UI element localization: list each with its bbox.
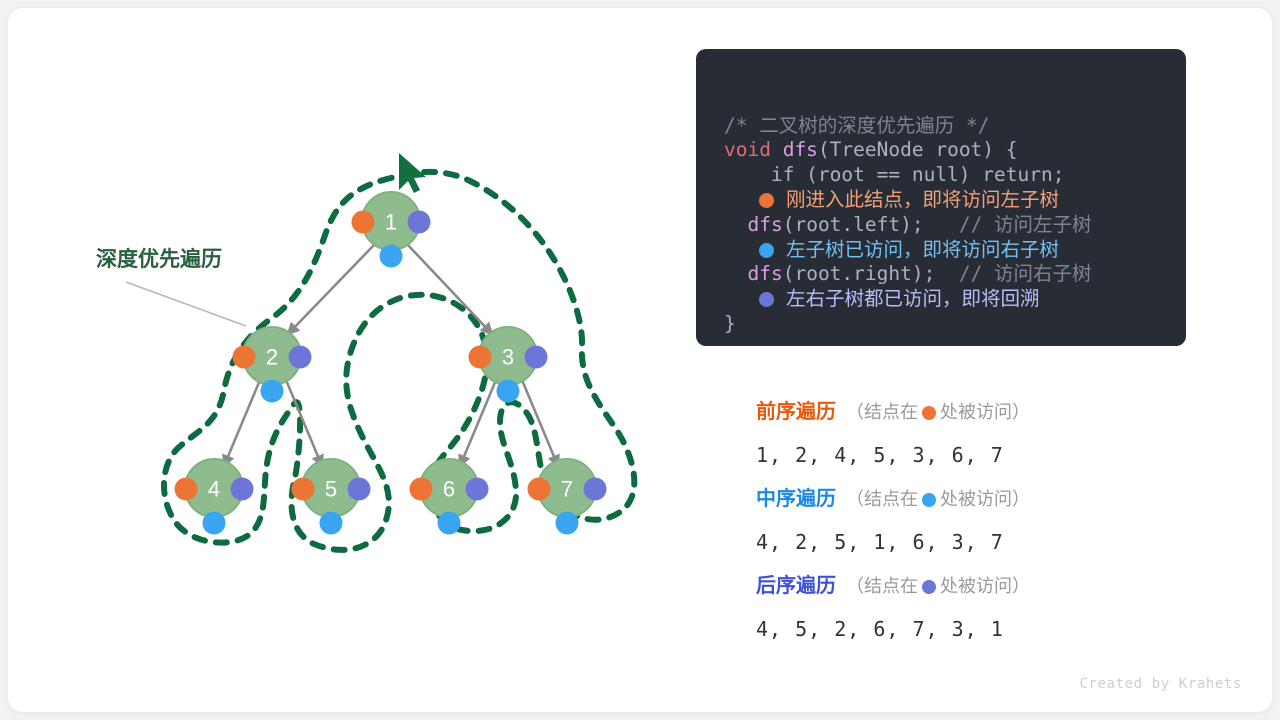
node-5-post-dot	[348, 478, 371, 501]
traversal-heading-postorder: 后序遍历（结点在处被访问）	[756, 566, 1186, 606]
traversal-sequence-preorder: 1, 2, 4, 5, 3, 6, 7	[756, 432, 1186, 479]
node-4-label: 4	[208, 477, 220, 502]
code-line: /* 二叉树的深度优先遍历 */	[724, 114, 1186, 139]
traversal-hint: （结点在处被访问）	[846, 576, 1030, 596]
traversal-hint-suffix: 处被访问）	[940, 402, 1030, 422]
code-marker-text: 左子树已访问，即将访问右子树	[774, 238, 1059, 261]
code-token	[724, 262, 747, 285]
node-3-post-dot	[525, 346, 548, 369]
tree-node-2[interactable]: 2	[233, 327, 312, 403]
traversal-heading-preorder: 前序遍历（结点在处被访问）	[756, 392, 1186, 432]
tree-node-7[interactable]: 7	[528, 459, 607, 535]
node-7-label: 7	[561, 477, 573, 502]
traversal-hint: （结点在处被访问）	[846, 489, 1030, 509]
code-line: }	[724, 312, 1186, 337]
node-7-pre-dot	[528, 478, 551, 501]
node-4-post-dot	[231, 478, 254, 501]
orange-dot-icon	[922, 406, 936, 420]
dfs-tree-diagram: 1 2	[48, 38, 688, 598]
traversal-name: 后序遍历	[756, 575, 836, 597]
traversal-hint: （结点在处被访问）	[846, 402, 1030, 422]
code-line: if (root == null) return;	[724, 163, 1186, 188]
node-1-label: 1	[385, 210, 397, 235]
node-2-in-dot	[261, 380, 284, 403]
code-marker-text: 左右子树都已访问，即将回溯	[774, 287, 1039, 310]
code-lines: /* 二叉树的深度优先遍历 */void dfs(TreeNode root) …	[724, 114, 1186, 337]
edge-2-5	[286, 380, 322, 466]
node-5-label: 5	[325, 477, 337, 502]
code-indent	[724, 238, 759, 261]
code-line: 左右子树都已访问，即将回溯	[724, 287, 1186, 312]
code-token: dfs	[747, 262, 782, 285]
code-token: (TreeNode root) {	[818, 138, 1018, 161]
page-root: 1 2	[0, 0, 1280, 720]
node-1-post-dot	[408, 211, 431, 234]
code-token	[724, 213, 747, 236]
traversal-name: 前序遍历	[756, 401, 836, 423]
edge-1-3	[407, 244, 492, 334]
node-2-post-dot	[289, 346, 312, 369]
credit-text: Created by Krahets	[1079, 676, 1242, 692]
code-line: 刚进入此结点，即将访问左子树	[724, 188, 1186, 213]
traversal-hint-prefix: （结点在	[846, 402, 918, 422]
code-token: (root.right);	[783, 262, 936, 285]
node-2-pre-dot	[233, 346, 256, 369]
traversal-heading-inorder: 中序遍历（结点在处被访问）	[756, 479, 1186, 519]
node-5-pre-dot	[292, 478, 315, 501]
code-token: }	[724, 312, 736, 335]
node-7-in-dot	[556, 512, 579, 535]
traversal-hint-suffix: 处被访问）	[940, 576, 1030, 596]
code-token: dfs	[783, 138, 818, 161]
traversal-hint-prefix: （结点在	[846, 489, 918, 509]
node-4-pre-dot	[175, 478, 198, 501]
node-7-post-dot	[584, 478, 607, 501]
code-line: 左子树已访问，即将访问右子树	[724, 238, 1186, 263]
purple-dot-icon	[922, 580, 936, 594]
node-3-pre-dot	[469, 346, 492, 369]
traversal-name: 中序遍历	[756, 488, 836, 510]
tree-node-5[interactable]: 5	[292, 459, 371, 535]
code-token: void	[724, 138, 783, 161]
traversal-sequence-postorder: 4, 5, 2, 6, 7, 3, 1	[756, 606, 1186, 653]
diagram-label-leader	[126, 282, 246, 326]
node-2-label: 2	[266, 345, 278, 370]
code-line: dfs(root.right); // 访问右子树	[724, 262, 1186, 287]
tree-svg: 1 2	[48, 38, 688, 598]
code-token: /* 二叉树的深度优先遍历 */	[724, 114, 989, 137]
node-4-in-dot	[203, 512, 226, 535]
diagram-label-text: 深度优先遍历	[96, 247, 222, 271]
node-6-label: 6	[443, 477, 455, 502]
node-3-in-dot	[497, 380, 520, 403]
traversal-hint-suffix: 处被访问）	[940, 489, 1030, 509]
node-3-label: 3	[502, 345, 514, 370]
code-indent	[724, 188, 759, 211]
code-token: if (root == null) return;	[724, 163, 1064, 186]
node-6-pre-dot	[410, 478, 433, 501]
node-1-pre-dot	[352, 211, 375, 234]
edge-2-4	[224, 380, 260, 466]
traversal-list: 前序遍历（结点在处被访问）1, 2, 4, 5, 3, 6, 7中序遍历（结点在…	[756, 392, 1186, 653]
code-token: (root.left);	[783, 213, 924, 236]
node-6-in-dot	[438, 512, 461, 535]
code-indent	[724, 287, 759, 310]
node-1-in-dot	[380, 245, 403, 268]
code-token: // 访问右子树	[935, 262, 1091, 285]
blue-dot-icon	[759, 243, 774, 258]
code-line: void dfs(TreeNode root) {	[724, 138, 1186, 163]
edge-1-2	[288, 244, 375, 334]
code-block: /* 二叉树的深度优先遍历 */void dfs(TreeNode root) …	[696, 49, 1186, 346]
traversal-sequence-inorder: 4, 2, 5, 1, 6, 3, 7	[756, 519, 1186, 566]
tree-node-4[interactable]: 4	[175, 459, 254, 535]
code-token: dfs	[747, 213, 782, 236]
code-marker-text: 刚进入此结点，即将访问左子树	[774, 188, 1059, 211]
blue-dot-icon	[922, 493, 936, 507]
node-5-in-dot	[320, 512, 343, 535]
orange-dot-icon	[759, 193, 774, 208]
purple-dot-icon	[759, 292, 774, 307]
node-6-post-dot	[466, 478, 489, 501]
code-line: dfs(root.left); // 访问左子树	[724, 213, 1186, 238]
tree-node-6[interactable]: 6	[410, 459, 489, 535]
traversal-hint-prefix: （结点在	[846, 576, 918, 596]
content-card: 1 2	[8, 8, 1272, 712]
code-token: // 访问左子树	[924, 213, 1092, 236]
